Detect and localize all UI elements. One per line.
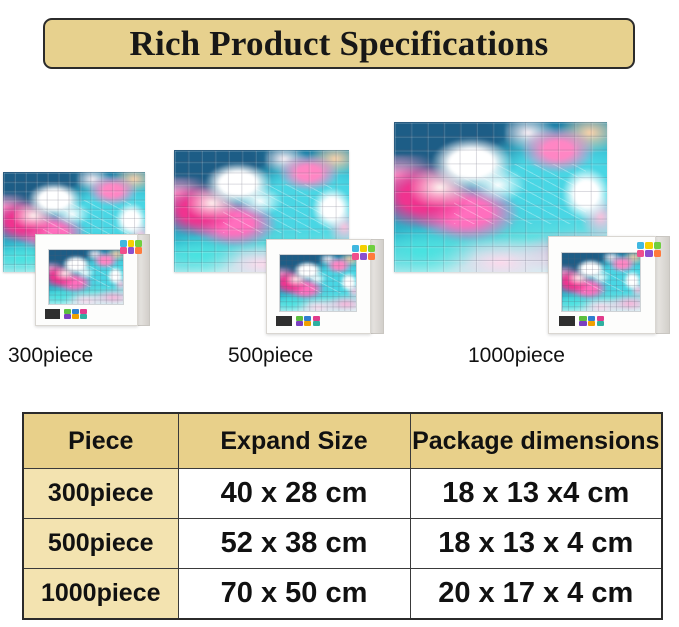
box-window-image-500piece: [279, 254, 357, 312]
cell-expand-size-300: 40 x 28 cm: [178, 469, 410, 519]
page-title: Rich Product Specifications: [130, 26, 549, 61]
box-window-artwork: [49, 250, 123, 304]
box-front-panel: [266, 239, 371, 334]
table-row: 500piece 52 x 38 cm 18 x 13 x 4 cm: [23, 519, 662, 569]
puzzle-pieces-icon: [637, 242, 661, 257]
size-label-500piece: 500piece: [228, 345, 313, 366]
brand-logo-300piece: [45, 309, 87, 319]
brand-logo-1000piece: [559, 316, 604, 326]
cell-package-dimensions-300: 18 x 13 x4 cm: [410, 469, 662, 519]
page-title-banner: Rich Product Specifications: [43, 18, 635, 69]
column-header-piece: Piece: [23, 413, 178, 469]
product-group-300piece: [0, 100, 180, 340]
product-box-1000piece: [548, 236, 670, 334]
cell-piece-1000: 1000piece: [23, 569, 178, 620]
box-window-image-1000piece: [561, 252, 641, 312]
product-specification-infographic: Rich Product Specifications: [0, 0, 679, 627]
table-row: 1000piece 70 x 50 cm 20 x 17 x 4 cm: [23, 569, 662, 620]
box-window-artwork: [280, 255, 356, 311]
size-label-300piece: 300piece: [8, 345, 93, 366]
cell-piece-500: 500piece: [23, 519, 178, 569]
size-label-1000piece: 1000piece: [468, 345, 565, 366]
cell-piece-300: 300piece: [23, 469, 178, 519]
box-front-panel: [35, 234, 138, 326]
puzzle-pieces-icon: [352, 245, 375, 260]
column-header-package-dimensions: Package dimensions: [410, 413, 662, 469]
cell-expand-size-1000: 70 x 50 cm: [178, 569, 410, 620]
cell-expand-size-500: 52 x 38 cm: [178, 519, 410, 569]
product-group-500piece: [170, 100, 420, 340]
table-header-row: Piece Expand Size Package dimensions: [23, 413, 662, 469]
cell-package-dimensions-1000: 20 x 17 x 4 cm: [410, 569, 662, 620]
column-header-expand-size: Expand Size: [178, 413, 410, 469]
product-group-1000piece: [390, 100, 670, 340]
cell-package-dimensions-500: 18 x 13 x 4 cm: [410, 519, 662, 569]
box-window-artwork: [562, 253, 640, 311]
puzzle-pieces-icon: [120, 240, 142, 254]
box-window-image-300piece: [48, 249, 124, 305]
brand-logo-500piece: [276, 316, 320, 326]
specification-table: Piece Expand Size Package dimensions 300…: [22, 412, 663, 620]
table-row: 300piece 40 x 28 cm 18 x 13 x4 cm: [23, 469, 662, 519]
product-box-300piece: [35, 234, 150, 326]
box-front-panel: [548, 236, 656, 334]
product-box-500piece: [266, 239, 384, 334]
